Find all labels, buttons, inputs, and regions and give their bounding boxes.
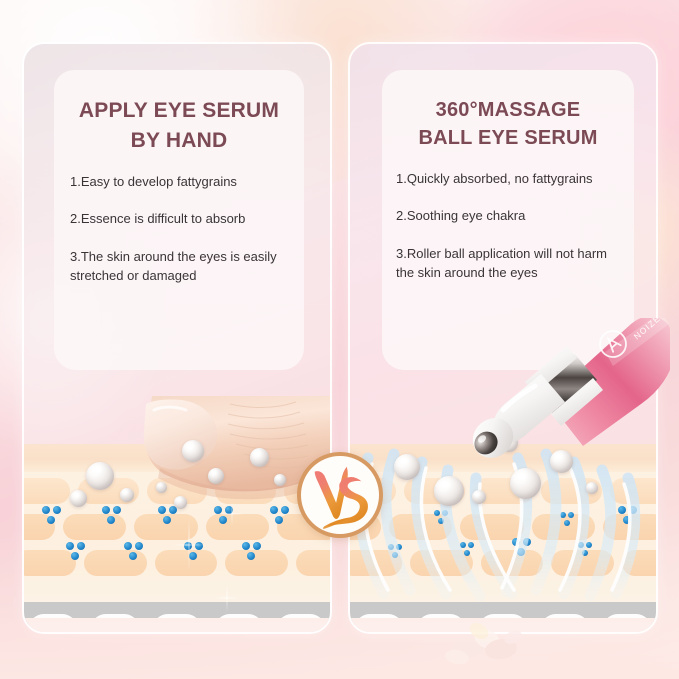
vs-lettering [301, 455, 379, 535]
pearl-bubble [250, 448, 269, 467]
epidermis-cell [22, 478, 70, 504]
panel-base-fade [24, 618, 330, 632]
infographic-canvas: APPLY EYE SERUM BY HAND 1.Easy to develo… [0, 0, 679, 679]
text-card-left: APPLY EYE SERUM BY HAND 1.Easy to develo… [54, 70, 304, 370]
pearl-bubble [208, 468, 224, 484]
pearl-bubble [472, 490, 486, 504]
vs-badge [297, 452, 383, 538]
bullet-item: 3.The skin around the eyes is easily str… [70, 247, 286, 286]
title-line: BY HAND [62, 126, 296, 156]
sparkle-icon [172, 518, 206, 572]
pearl-bubble [434, 476, 464, 506]
pearl-bubble [86, 462, 114, 490]
panel-title-right: 360°MASSAGE BALL EYE SERUM [382, 70, 634, 153]
pearl-bubble [70, 490, 87, 507]
bullet-item: 1.Quickly absorbed, no fattygrains [396, 169, 624, 189]
molecule-cluster-icon [242, 542, 264, 562]
pearl-bubble [182, 440, 204, 462]
pearl-bubble [394, 454, 420, 480]
pearl-bubble [174, 496, 187, 509]
comparison-panel-hand: APPLY EYE SERUM BY HAND 1.Easy to develo… [22, 42, 332, 634]
molecule-cluster-icon [66, 542, 88, 562]
bullet-list-left: 1.Easy to develop fattygrains 2.Essence … [54, 156, 304, 286]
bullet-list-right: 1.Quickly absorbed, no fattygrains 2.Soo… [382, 153, 634, 283]
pearl-bubble [156, 482, 167, 493]
pearl-bubble [120, 488, 134, 502]
sparkle-icon [214, 584, 240, 612]
pearl-bubble [510, 468, 541, 499]
bullet-item: 2.Soothing eye chakra [396, 206, 624, 226]
molecule-cluster-icon [102, 506, 124, 526]
sparkle-icon [220, 502, 244, 526]
petal-decoration [409, 603, 559, 673]
molecule-cluster-icon [124, 542, 146, 562]
bullet-item: 1.Easy to develop fattygrains [70, 172, 286, 192]
serum-tube-product: NOIZE [455, 318, 670, 463]
bullet-item: 3.Roller ball application will not harm … [396, 244, 624, 283]
title-line: 360°MASSAGE [390, 96, 626, 124]
pearl-bubble [274, 474, 286, 486]
title-line: BALL EYE SERUM [390, 124, 626, 152]
pearl-bubble [586, 482, 598, 494]
molecule-cluster-icon [270, 506, 292, 526]
epidermis-cell [296, 550, 332, 576]
molecule-cluster-icon [42, 506, 64, 526]
panel-title-left: APPLY EYE SERUM BY HAND [54, 70, 304, 156]
title-line: APPLY EYE SERUM [62, 96, 296, 126]
bullet-item: 2.Essence is difficult to absorb [70, 209, 286, 229]
